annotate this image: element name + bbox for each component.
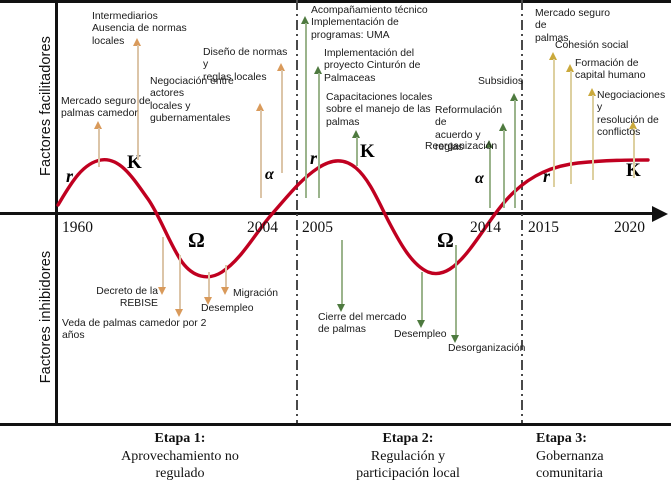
phase-label-r-2: r <box>310 148 317 169</box>
stage-2-desc: Regulación y participación local <box>356 449 460 482</box>
stage-2-title: Etapa 2: <box>318 430 498 448</box>
phase-label-k-1: K <box>127 152 142 174</box>
facilitator-label-9: Reformulación de acuerdo y reglas <box>435 105 510 155</box>
figure-canvas: Factores facilitadores Factores inhibido… <box>0 0 671 484</box>
stage-caption-3: Etapa 3: Gobernanza comunitaria <box>536 430 666 483</box>
stage-3-title: Etapa 3: <box>536 430 666 448</box>
year-tick-2015: 2015 <box>528 219 559 237</box>
stage-caption-2: Etapa 2: Regulación y participación loca… <box>318 430 498 483</box>
stage-3-desc: Gobernanza comunitaria <box>536 449 604 482</box>
facilitator-label-10: Subsidios <box>478 76 528 88</box>
facilitator-label-6: Implementación del proyecto Cinturón de … <box>324 48 434 85</box>
inhibitor-label-6: Desempleo <box>394 329 456 341</box>
year-tick-2014: 2014 <box>470 219 501 237</box>
facilitator-label-12: Cohesión social <box>555 40 645 52</box>
stage-1-desc: Aprovechamiento no regulado <box>121 449 239 482</box>
inhibitor-label-2: Veda de palmas camedor por 2 años <box>62 318 212 343</box>
inhibitor-label-3: Desempleo <box>201 303 261 315</box>
facilitator-label-1: Mercado seguro de palmas camedor <box>61 96 156 121</box>
inhibitor-label-4: Migración <box>233 288 295 300</box>
inhibitor-label-7: Desorganización <box>448 343 528 355</box>
phase-label-alpha-1: α <box>265 166 274 184</box>
phase-label-alpha-2: α <box>475 170 484 188</box>
facilitator-label-5: Acompañamiento técnico Implementación de… <box>311 5 436 42</box>
year-tick-2005: 2005 <box>302 219 333 237</box>
stage-1-title: Etapa 1: <box>85 430 275 448</box>
facilitator-label-13: Formación de capital humano <box>575 58 653 83</box>
facilitator-label-14: Negociaciones y resolución de conflictos <box>597 90 669 140</box>
year-tick-2020: 2020 <box>614 219 645 237</box>
phase-label-r-1: r <box>66 166 73 187</box>
phase-label-k-2: K <box>360 141 375 163</box>
phase-label-omega-1: Ω <box>188 228 205 253</box>
year-tick-1960: 1960 <box>62 219 93 237</box>
facilitator-label-2: Intermediarios Ausencia de normas locale… <box>92 11 202 48</box>
facilitator-label-7: Capacitaciones locales sobre el manejo d… <box>326 92 442 129</box>
phase-label-omega-2: Ω <box>437 228 454 253</box>
year-tick-2004: 2004 <box>247 219 278 237</box>
phase-label-r-3: r <box>543 166 550 187</box>
facilitator-label-4: Diseño de normas y reglas locales <box>203 47 295 84</box>
stage-caption-1: Etapa 1: Aprovechamiento no regulado <box>85 430 275 483</box>
inhibitor-label-1: Decreto de la REBISE <box>60 286 158 311</box>
